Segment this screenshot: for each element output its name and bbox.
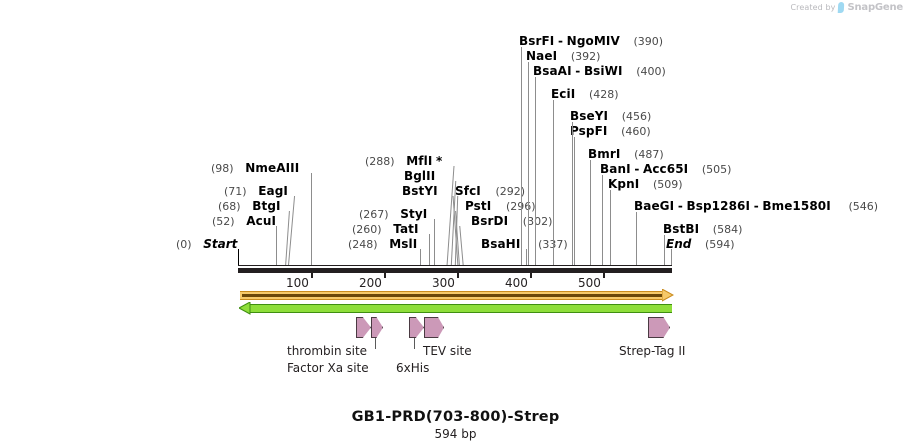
- enzyme-label-sfci[interactable]: SfcI (292): [455, 185, 525, 198]
- watermark-brand: SnapGene: [847, 2, 903, 13]
- end-position: (594): [705, 238, 735, 251]
- enzyme-position: (288): [365, 155, 395, 168]
- enzyme-label-baegi-bsp1286i-bme1580i[interactable]: BaeGI - Bsp1286I - Bme1580I (546): [634, 200, 878, 213]
- map-length-label: 594 bp: [0, 427, 911, 441]
- feature-label-tev-site: TEV site: [423, 344, 472, 358]
- ruler-tick-label-400: 400: [505, 276, 528, 290]
- enzyme-name-2: Acc65I: [643, 162, 688, 176]
- enzyme-name: NaeI: [526, 49, 557, 63]
- ruler-tick-label-100: 100: [286, 276, 309, 290]
- enzyme-position: (260): [352, 223, 382, 236]
- enzyme-label-bseyi[interactable]: BseYI (456): [570, 110, 651, 123]
- map-title: GB1-PRD(703-800)-Strep: [0, 409, 911, 425]
- enzyme-position: (456): [622, 110, 652, 123]
- enzyme-name: BanI: [600, 162, 631, 176]
- reverse-green-arrow[interactable]: [240, 304, 672, 313]
- name-separator: -: [558, 34, 563, 48]
- enzyme-name: TatI: [393, 222, 418, 236]
- enzyme-name: BstBI: [663, 222, 699, 236]
- ruler-tick-label-500: 500: [578, 276, 601, 290]
- arrow-head-left-icon: [239, 302, 251, 315]
- label-end[interactable]: End (594): [666, 238, 735, 251]
- ruler-tick-label-300: 300: [432, 276, 455, 290]
- name-separator: -: [575, 64, 580, 78]
- enzyme-position: (400): [636, 65, 666, 78]
- leader-line-ecii: [553, 100, 554, 266]
- enzyme-label-bsrfi-ngomiv[interactable]: BsrFI - NgoMIV (390): [519, 35, 663, 48]
- ruler-tick-500: [603, 270, 605, 278]
- forward-orange-arrow[interactable]: [240, 291, 672, 300]
- ruler-tick-label-200: 200: [359, 276, 382, 290]
- leader-line-eagi: [288, 196, 295, 266]
- leader-line-bsaai: [535, 77, 536, 266]
- leader-line-bmri: [590, 160, 591, 266]
- enzyme-name: BtgI: [252, 199, 280, 213]
- enzyme-label-tati[interactable]: (260) TatI: [352, 223, 419, 236]
- leader-line-bseyi: [572, 122, 573, 266]
- feature-label-strep-tag-ii: Strep-Tag II: [619, 344, 685, 358]
- start-position: (0): [176, 238, 192, 251]
- enzyme-name: NmeAIII: [245, 161, 299, 175]
- enzyme-name: EciI: [551, 87, 575, 101]
- leader-line-start: [238, 249, 239, 266]
- enzyme-label-naei[interactable]: NaeI (392): [526, 50, 600, 63]
- enzyme-position: (267): [359, 208, 389, 221]
- enzyme-name: MslI: [389, 237, 417, 251]
- enzyme-name: StyI: [400, 207, 427, 221]
- feature-label-factor-xa-site: Factor Xa site: [287, 361, 369, 375]
- enzyme-position: (505): [702, 163, 732, 176]
- enzyme-name-2: NgoMIV: [567, 34, 620, 48]
- snapgene-logo-icon: [838, 2, 845, 13]
- enzyme-name: PspFI: [570, 124, 607, 138]
- enzyme-name-3: Bme1580I: [762, 199, 830, 213]
- enzyme-label-bstyi[interactable]: BstYI: [402, 185, 438, 197]
- enzyme-name-2: Bsp1286I: [687, 199, 751, 213]
- leader-line-naei: [528, 62, 529, 266]
- leader-line-bsahi: [526, 249, 527, 266]
- enzyme-position: (98): [211, 162, 234, 175]
- ruler-tick-100: [311, 270, 313, 278]
- enzyme-position: (390): [634, 35, 664, 48]
- feature-leader-6xhis: [414, 338, 415, 349]
- leader-line-bstbi: [664, 235, 665, 266]
- leader-line-msli: [420, 249, 421, 266]
- ruler-hairline: [238, 265, 672, 266]
- enzyme-position: (487): [634, 148, 664, 161]
- feature-tev-site[interactable]: [424, 317, 444, 338]
- enzyme-position: (460): [621, 125, 651, 138]
- enzyme-label-bstbi[interactable]: BstBI (584): [663, 223, 742, 236]
- enzyme-label-styi[interactable]: (267) StyI: [359, 208, 427, 221]
- name-separator: -: [678, 199, 683, 213]
- feature-leader-factor-xa: [375, 338, 376, 349]
- enzyme-label-ecii[interactable]: EciI (428): [551, 88, 619, 101]
- enzyme-name: BglII: [404, 169, 435, 183]
- enzyme-position: (71): [224, 185, 247, 198]
- watermark-prefix: Created by: [790, 3, 835, 12]
- enzyme-label-mfli[interactable]: (288) MflI *: [365, 155, 442, 168]
- leader-line-pspfi: [574, 137, 575, 266]
- enzyme-name: SfcI: [455, 184, 481, 198]
- enzyme-label-nmeaiii[interactable]: (98) NmeAIII: [211, 162, 299, 175]
- enzyme-label-psti[interactable]: PstI (296): [465, 200, 536, 213]
- enzyme-position: (68): [218, 200, 241, 213]
- enzyme-name: AcuI: [246, 214, 276, 228]
- enzyme-label-kpni[interactable]: KpnI (509): [608, 178, 683, 191]
- leader-line-nmeaiii: [311, 173, 312, 266]
- end-label: End: [666, 237, 691, 251]
- enzyme-label-bsaai-bsiwi[interactable]: BsaAI - BsiWI (400): [533, 65, 666, 78]
- enzyme-label-msli[interactable]: (248) MslI: [348, 238, 417, 251]
- sequence-ruler[interactable]: [238, 268, 672, 273]
- enzyme-name: EagI: [258, 184, 288, 198]
- enzyme-name: BmrI: [588, 147, 620, 161]
- enzyme-name: BsaAI: [533, 64, 572, 78]
- label-start[interactable]: (0) Start: [176, 238, 237, 251]
- enzyme-position: (428): [589, 88, 619, 101]
- enzyme-name: BsrFI: [519, 34, 554, 48]
- enzyme-label-bglii[interactable]: BglII: [404, 170, 435, 182]
- enzyme-name: BsaHI: [481, 237, 520, 251]
- feature-factor-xa-site[interactable]: [371, 317, 383, 338]
- leader-line-bani: [602, 175, 603, 266]
- enzyme-position: (509): [653, 178, 683, 191]
- leader-line-baegi: [636, 212, 637, 266]
- leader-line-styi: [434, 219, 435, 266]
- enzyme-label-bsrdi[interactable]: BsrDI (302): [471, 215, 552, 228]
- snapgene-watermark: Created by SnapGene: [790, 2, 903, 13]
- feature-label-6xhis: 6xHis: [396, 361, 429, 375]
- leader-line-tati: [429, 234, 430, 266]
- enzyme-position: (584): [713, 223, 743, 236]
- enzyme-name-2: BsiWI: [584, 64, 623, 78]
- enzyme-label-bsahi[interactable]: BsaHI (337): [481, 238, 568, 251]
- enzyme-label-btgi[interactable]: (68) BtgI: [218, 200, 281, 213]
- enzyme-position: (546): [848, 200, 878, 213]
- start-label: Start: [203, 237, 237, 251]
- enzyme-position: (392): [571, 50, 601, 63]
- leader-line-end: [671, 249, 672, 266]
- enzyme-name: BaeGI: [634, 199, 674, 213]
- feature-label-thrombin-site: thrombin site: [287, 344, 367, 358]
- enzyme-position: (52): [212, 215, 235, 228]
- arrow-head-right-icon: [662, 289, 674, 302]
- enzyme-name: BstYI: [402, 184, 438, 198]
- leader-line-bsrdi: [459, 226, 463, 266]
- enzyme-name: BseYI: [570, 109, 608, 123]
- name-separator-2: -: [754, 199, 759, 213]
- enzyme-position: (248): [348, 238, 378, 251]
- enzyme-label-bmri[interactable]: BmrI (487): [588, 148, 664, 161]
- enzyme-name: BsrDI: [471, 214, 508, 228]
- enzyme-label-pspfi[interactable]: PspFI (460): [570, 125, 651, 138]
- feature-strep-tag-ii[interactable]: [648, 317, 670, 338]
- ruler-tick-400: [530, 270, 532, 278]
- star-annotation-icon: *: [436, 154, 442, 168]
- enzyme-name: PstI: [465, 199, 491, 213]
- ruler-tick-300: [457, 270, 459, 278]
- name-separator: -: [634, 162, 639, 176]
- leader-line-kpni: [610, 190, 611, 266]
- enzyme-label-bani-acc65i[interactable]: BanI - Acc65I (505): [600, 163, 731, 176]
- enzyme-name: KpnI: [608, 177, 639, 191]
- feature-6xhis[interactable]: [409, 317, 424, 338]
- enzyme-label-acui[interactable]: (52) AcuI: [212, 215, 276, 228]
- enzyme-label-eagi[interactable]: (71) EagI: [224, 185, 288, 198]
- ruler-tick-200: [384, 270, 386, 278]
- leader-line-bsrfi: [521, 47, 522, 266]
- leader-line-acui: [276, 226, 277, 266]
- feature-thrombin-site[interactable]: [356, 317, 371, 338]
- enzyme-name: MflI: [406, 154, 432, 168]
